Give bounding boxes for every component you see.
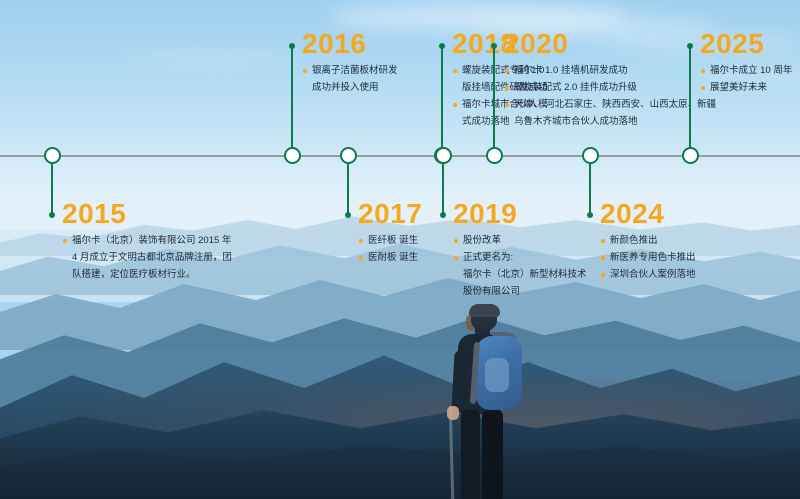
timeline-stem-dot-2020	[491, 43, 497, 49]
bullet-dot-icon	[453, 69, 457, 73]
timeline-node-2016[interactable]	[284, 147, 301, 164]
bullet-dot-icon	[505, 69, 509, 73]
timeline-item-label: 天津、 河北石家庄、陕西西安、山西太原、新疆	[514, 99, 716, 110]
timeline-item: 新颜色推出	[600, 233, 696, 248]
timeline-item: 银离子洁菌板材研发	[302, 63, 398, 78]
timeline-item-label: 展望美好未来	[710, 82, 767, 93]
timeline-item: 深圳合伙人案例落地	[600, 267, 696, 282]
bullet-dot-icon	[601, 273, 605, 277]
timeline-item-label: 螺旋装配式 2.0 挂件成功升级	[514, 82, 637, 93]
timeline-year-2020: 2020	[504, 30, 568, 58]
timeline-item-label: 股份改革	[463, 235, 501, 246]
timeline-item: 天津、 河北石家庄、陕西西安、山西太原、新疆	[504, 97, 716, 112]
timeline-item: 医耐板 诞生	[358, 250, 418, 265]
leg-left	[461, 410, 480, 499]
timeline-items-2019: 股份改革正式更名为:福尔卡（北京）新型材料技术股份有限公司	[453, 233, 587, 301]
timeline-item-label: 医纤板 诞生	[368, 235, 418, 246]
timeline-item-label: 式成功落地	[462, 116, 510, 127]
timeline-node-2015[interactable]	[44, 147, 61, 164]
timeline-node-2017[interactable]	[340, 147, 357, 164]
timeline-stem-dot-2015	[49, 212, 55, 218]
timeline-stem-dot-2017	[345, 212, 351, 218]
timeline-items-2024: 新颜色推出新医养专用色卡推出深圳合伙人案例落地	[600, 233, 696, 284]
foreground-slope	[0, 430, 800, 499]
timeline-stem-dot-2025	[687, 43, 693, 49]
timeline-item-label: 福尔卡成立 10 周年	[710, 65, 792, 76]
timeline-node-2025[interactable]	[682, 147, 699, 164]
timeline-year-2016: 2016	[302, 30, 366, 58]
bullet-dot-icon	[63, 239, 67, 243]
hiker-figure	[430, 306, 550, 499]
timeline-year-2017: 2017	[358, 200, 422, 228]
bullet-dot-icon	[701, 86, 705, 90]
timeline-axis	[0, 155, 800, 157]
timeline-year-2015: 2015	[62, 200, 126, 228]
bullet-dot-icon	[505, 103, 509, 107]
timeline-item: 福尔卡（北京）装饰有限公司 2015 年	[62, 233, 232, 248]
timeline-item: 正式更名为:	[453, 250, 587, 265]
bullet-dot-icon	[303, 69, 307, 73]
bullet-dot-icon	[701, 69, 705, 73]
timeline-item-label: 成功并投入使用	[312, 82, 379, 93]
timeline-item: 股份有限公司	[453, 284, 587, 299]
timeline-items-2016: 银离子洁菌板材研发成功并投入使用	[302, 63, 398, 97]
bullet-dot-icon	[453, 103, 457, 107]
cap	[469, 304, 500, 317]
cloud-shape	[330, 4, 630, 30]
timeline-item-label: 福尔卡（北京）装饰有限公司 2015 年	[72, 235, 231, 246]
timeline-item-label: 福尔卡 1.0 挂墙机研发成功	[514, 65, 628, 76]
timeline-stem-dot-2018	[439, 43, 445, 49]
timeline-item: 福尔卡 1.0 挂墙机研发成功	[504, 63, 716, 78]
timeline-stem-2019	[442, 163, 445, 216]
timeline-stem-dot-2016	[289, 43, 295, 49]
timeline-node-2024[interactable]	[582, 147, 599, 164]
timeline-item-label: 福尔卡（北京）新型材料技术	[463, 269, 587, 280]
bullet-dot-icon	[454, 239, 458, 243]
timeline-stem-dot-2019	[440, 212, 446, 218]
timeline-item-label: 乌鲁木齐城市合伙人成功落地	[514, 116, 638, 127]
timeline-infographic: 2015福尔卡（北京）装饰有限公司 2015 年4 月成立于文明古都北京品牌注册…	[0, 0, 800, 499]
timeline-stem-dot-2024	[587, 212, 593, 218]
timeline-year-2024: 2024	[600, 200, 664, 228]
timeline-items-2017: 医纤板 诞生医耐板 诞生	[358, 233, 418, 267]
timeline-item: 乌鲁木齐城市合伙人成功落地	[504, 114, 716, 129]
bullet-dot-icon	[601, 256, 605, 260]
timeline-item: 福尔卡成立 10 周年	[700, 63, 792, 78]
timeline-item: 队搭建，定位医疗板材行业。	[62, 267, 232, 282]
timeline-item-label: 4 月成立于文明古都北京品牌注册，团	[72, 252, 232, 263]
backpack-panel	[485, 358, 509, 392]
timeline-stem-2017	[347, 163, 350, 216]
mountain-ridge	[0, 292, 800, 412]
sunlight-glow	[0, 380, 800, 499]
timeline-stem-2018	[441, 45, 444, 155]
bullet-dot-icon	[505, 86, 509, 90]
timeline-year-2025: 2025	[700, 30, 764, 58]
timeline-item-label: 股份有限公司	[463, 286, 520, 297]
bullet-dot-icon	[454, 256, 458, 260]
timeline-node-2020[interactable]	[486, 147, 503, 164]
timeline-stem-2024	[589, 163, 592, 216]
timeline-item: 股份改革	[453, 233, 587, 248]
timeline-item-label: 深圳合伙人案例落地	[610, 269, 696, 280]
timeline-item: 展望美好未来	[700, 80, 792, 95]
timeline-node-2019[interactable]	[435, 147, 452, 164]
timeline-item-label: 新医养专用色卡推出	[610, 252, 696, 263]
leg-right	[482, 410, 503, 499]
timeline-item: 福尔卡（北京）新型材料技术	[453, 267, 587, 282]
timeline-item: 螺旋装配式 2.0 挂件成功升级	[504, 80, 716, 95]
timeline-items-2020: 福尔卡 1.0 挂墙机研发成功螺旋装配式 2.0 挂件成功升级天津、 河北石家庄…	[504, 63, 716, 131]
timeline-item: 4 月成立于文明古都北京品牌注册，团	[62, 250, 232, 265]
timeline-item: 医纤板 诞生	[358, 233, 418, 248]
timeline-item-label: 正式更名为:	[463, 252, 513, 263]
mountain-ridge-dark	[0, 398, 800, 499]
mountain-ridge-near	[0, 336, 800, 499]
timeline-year-2019: 2019	[453, 200, 517, 228]
timeline-item: 新医养专用色卡推出	[600, 250, 696, 265]
cloud-shape	[120, 52, 300, 64]
timeline-items-2015: 福尔卡（北京）装饰有限公司 2015 年4 月成立于文明古都北京品牌注册，团队搭…	[62, 233, 232, 284]
timeline-stem-2016	[291, 45, 294, 155]
timeline-item: 成功并投入使用	[302, 80, 398, 95]
timeline-stem-2020	[493, 45, 496, 155]
bullet-dot-icon	[359, 256, 363, 260]
timeline-item-label: 队搭建，定位医疗板材行业。	[72, 269, 196, 280]
bullet-dot-icon	[601, 239, 605, 243]
timeline-item-label: 医耐板 诞生	[368, 252, 418, 263]
timeline-items-2025: 福尔卡成立 10 周年展望美好未来	[700, 63, 792, 97]
bullet-dot-icon	[359, 239, 363, 243]
hand	[447, 406, 459, 420]
timeline-item-label: 银离子洁菌板材研发	[312, 65, 398, 76]
timeline-item-label: 新颜色推出	[610, 235, 658, 246]
timeline-stem-2015	[51, 163, 54, 216]
timeline-stem-2025	[689, 45, 692, 155]
